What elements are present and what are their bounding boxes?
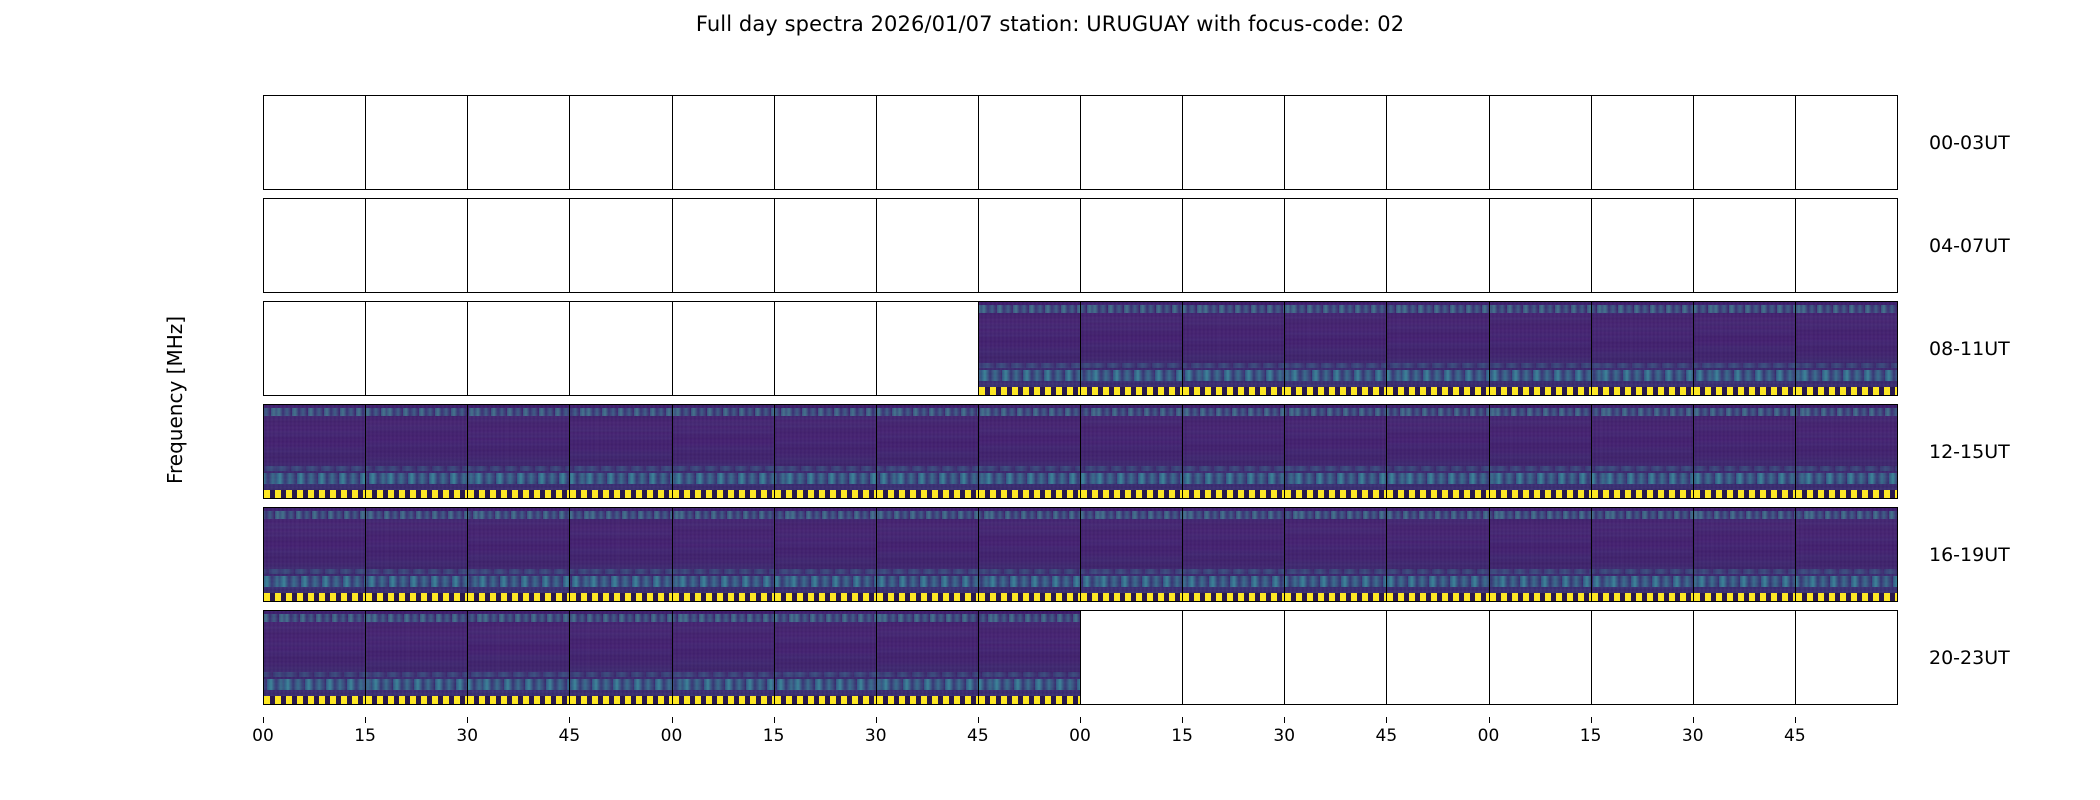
y-tick-mark bbox=[876, 343, 877, 344]
x-tick-mark bbox=[876, 717, 877, 723]
emission-band bbox=[1796, 370, 1897, 381]
emission-band bbox=[1183, 305, 1284, 313]
y-tick-mark bbox=[569, 212, 570, 213]
spectrogram-panel[interactable] bbox=[1284, 301, 1387, 396]
x-tick-label: 00 bbox=[1069, 726, 1091, 746]
y-tick-mark bbox=[1284, 549, 1285, 550]
y-tick-mark bbox=[876, 549, 877, 550]
emission-band bbox=[1387, 363, 1488, 368]
y-tick-mark bbox=[1284, 521, 1285, 522]
spectrogram-panel[interactable] bbox=[1080, 404, 1183, 499]
y-tick-mark bbox=[1693, 652, 1694, 653]
calibration-strip bbox=[1285, 387, 1386, 395]
emission-band bbox=[1796, 305, 1897, 313]
spectrogram-panel[interactable] bbox=[1591, 610, 1694, 705]
y-tick-mark bbox=[1795, 109, 1796, 110]
y-tick-mark bbox=[1386, 549, 1387, 550]
emission-band bbox=[1592, 370, 1693, 381]
y-tick-mark bbox=[978, 315, 979, 316]
spectrogram-panel[interactable] bbox=[1795, 404, 1898, 499]
spectrogram-panel[interactable] bbox=[1386, 95, 1489, 190]
spectrogram-panel[interactable] bbox=[876, 95, 979, 190]
x-tick-cell: 15 bbox=[774, 717, 876, 757]
spectrogram-panel[interactable] bbox=[1182, 198, 1285, 293]
spectrogram-panel[interactable] bbox=[1182, 610, 1285, 705]
y-tick-mark bbox=[1080, 521, 1081, 522]
spectrogram-panel[interactable] bbox=[365, 95, 468, 190]
y-tick-mark bbox=[365, 521, 366, 522]
spectrogram-panel[interactable] bbox=[1284, 198, 1387, 293]
spectrogram-data bbox=[1183, 405, 1284, 498]
spectrogram-data bbox=[468, 405, 569, 498]
spectrogram-panel[interactable] bbox=[1693, 610, 1796, 705]
spectrogram-panel[interactable] bbox=[365, 301, 468, 396]
x-tick-cell: 45 bbox=[569, 717, 671, 757]
spectrogram-panel[interactable] bbox=[365, 404, 468, 499]
spectrogram-data bbox=[877, 508, 978, 601]
spectrogram-panel[interactable] bbox=[1693, 95, 1796, 190]
y-tick-mark bbox=[1284, 109, 1285, 110]
emission-band bbox=[1183, 569, 1284, 574]
y-tick-mark bbox=[672, 624, 673, 625]
spectrogram-panel[interactable] bbox=[672, 301, 775, 396]
y-tick-mark bbox=[1182, 343, 1183, 344]
spectrogram-panel[interactable] bbox=[1795, 95, 1898, 190]
emission-band bbox=[1490, 569, 1591, 574]
emission-band bbox=[1796, 466, 1897, 471]
spectrogram-panel[interactable] bbox=[365, 198, 468, 293]
spectrogram-panel[interactable] bbox=[1386, 507, 1489, 602]
spectrogram-panel[interactable] bbox=[774, 198, 877, 293]
emission-band bbox=[1387, 576, 1488, 587]
spectrogram-panel[interactable] bbox=[1489, 198, 1592, 293]
x-tick-mark bbox=[1591, 717, 1592, 723]
y-tick-mark bbox=[1795, 418, 1796, 419]
spectrogram-data bbox=[1081, 405, 1182, 498]
y-tick-mark bbox=[876, 240, 877, 241]
calibration-strip bbox=[1694, 490, 1795, 498]
y-tick-mark bbox=[1489, 109, 1490, 110]
x-tick-cell: 15 bbox=[1182, 717, 1284, 757]
calibration-strip bbox=[673, 593, 774, 601]
spectrogram-panel[interactable]: 400200 bbox=[263, 610, 366, 705]
y-tick-mark bbox=[978, 521, 979, 522]
y-tick-mark bbox=[1489, 212, 1490, 213]
y-tick-mark bbox=[467, 521, 468, 522]
y-tick-mark bbox=[1182, 137, 1183, 138]
y-tick-mark bbox=[1489, 446, 1490, 447]
emission-band bbox=[366, 511, 467, 519]
spectrogram-panel[interactable] bbox=[1080, 95, 1183, 190]
spectrogram-panel[interactable] bbox=[672, 507, 775, 602]
y-tick-mark bbox=[1489, 652, 1490, 653]
emission-band bbox=[468, 466, 569, 471]
y-tick-mark bbox=[1182, 652, 1183, 653]
y-tick-mark bbox=[1795, 624, 1796, 625]
spectrogram-data bbox=[1490, 508, 1591, 601]
spectrogram-panel[interactable] bbox=[569, 507, 672, 602]
spectrogram-panel[interactable]: 400200 bbox=[263, 301, 366, 396]
emission-band bbox=[468, 672, 569, 677]
emission-band bbox=[775, 408, 876, 416]
x-tick-cell: 45 bbox=[1386, 717, 1488, 757]
spectrogram-data bbox=[1592, 508, 1693, 601]
x-tick-label: 00 bbox=[661, 726, 683, 746]
x-tick-mark bbox=[263, 717, 264, 723]
y-tick-mark bbox=[1386, 315, 1387, 316]
spectrogram-data bbox=[264, 508, 365, 601]
emission-band bbox=[1285, 466, 1386, 471]
spectrogram-panel[interactable] bbox=[1591, 507, 1694, 602]
spectrogram-panel[interactable] bbox=[569, 198, 672, 293]
spectrogram-panel[interactable] bbox=[1080, 610, 1183, 705]
spectrogram-panel[interactable] bbox=[1591, 198, 1694, 293]
x-tick-mark bbox=[1182, 717, 1183, 723]
spectrogram-panel[interactable] bbox=[1693, 404, 1796, 499]
row-time-label: 08-11UT bbox=[1929, 338, 2010, 360]
spectrogram-panel[interactable] bbox=[876, 198, 979, 293]
y-tick-mark bbox=[774, 315, 775, 316]
emission-band bbox=[570, 576, 671, 587]
emission-band bbox=[1694, 473, 1795, 484]
calibration-strip bbox=[570, 593, 671, 601]
spectrogram-data bbox=[264, 611, 365, 704]
spectrogram-panel[interactable] bbox=[467, 507, 570, 602]
y-tick-mark bbox=[467, 240, 468, 241]
y-tick-mark bbox=[467, 137, 468, 138]
calibration-strip bbox=[1796, 387, 1897, 395]
y-tick-mark bbox=[1795, 315, 1796, 316]
y-tick-mark bbox=[1795, 652, 1796, 653]
y-tick-mark bbox=[1693, 109, 1694, 110]
y-axis-label: Frequency [MHz] bbox=[163, 316, 187, 484]
y-tick-mark: 400 bbox=[263, 418, 264, 419]
x-tick-label: 15 bbox=[354, 726, 376, 746]
y-tick-mark bbox=[978, 109, 979, 110]
spectrogram-panel[interactable] bbox=[672, 404, 775, 499]
calibration-strip bbox=[264, 490, 365, 498]
calibration-strip bbox=[264, 593, 365, 601]
y-tick-mark bbox=[1591, 418, 1592, 419]
y-tick-mark: 400 bbox=[263, 212, 264, 213]
y-tick-mark bbox=[1693, 418, 1694, 419]
emission-band bbox=[979, 466, 1080, 471]
y-tick-mark bbox=[1182, 212, 1183, 213]
spectrogram-panel[interactable] bbox=[1080, 507, 1183, 602]
emission-band bbox=[468, 569, 569, 574]
spectrogram-panel[interactable] bbox=[1795, 610, 1898, 705]
spectrogram-panel[interactable] bbox=[978, 507, 1081, 602]
spectrogram-panel[interactable] bbox=[569, 610, 672, 705]
spectrogram-panel[interactable] bbox=[1591, 95, 1694, 190]
emission-band bbox=[1183, 408, 1284, 416]
y-tick-mark bbox=[672, 315, 673, 316]
spectrogram-panel[interactable] bbox=[672, 95, 775, 190]
y-tick-mark bbox=[467, 549, 468, 550]
spectrogram-panel[interactable] bbox=[1386, 301, 1489, 396]
spectrogram-panel[interactable] bbox=[1284, 610, 1387, 705]
y-tick-mark bbox=[467, 109, 468, 110]
y-tick-mark bbox=[1080, 446, 1081, 447]
y-tick-mark bbox=[1284, 652, 1285, 653]
x-tick-mark bbox=[978, 717, 979, 723]
y-tick-mark bbox=[1182, 418, 1183, 419]
spectrogram-panel[interactable] bbox=[672, 610, 775, 705]
x-tick-mark bbox=[467, 717, 468, 723]
x-tick-mark bbox=[365, 717, 366, 723]
spectrogram-panel[interactable] bbox=[1284, 404, 1387, 499]
y-tick-mark bbox=[876, 137, 877, 138]
calibration-strip bbox=[366, 593, 467, 601]
y-tick-mark bbox=[1386, 652, 1387, 653]
emission-band bbox=[1081, 576, 1182, 587]
calibration-strip bbox=[979, 696, 1080, 704]
spectrogram-panel[interactable] bbox=[1080, 198, 1183, 293]
spectrogram-panel[interactable] bbox=[876, 404, 979, 499]
spectrogram-panel[interactable] bbox=[1591, 301, 1694, 396]
spectrogram-panel[interactable] bbox=[569, 404, 672, 499]
spectrogram-panel[interactable] bbox=[1489, 95, 1592, 190]
y-tick-mark bbox=[365, 549, 366, 550]
y-tick-mark bbox=[672, 652, 673, 653]
x-tick-cell: 00 bbox=[1080, 717, 1182, 757]
y-tick-mark bbox=[1693, 137, 1694, 138]
calibration-strip bbox=[1081, 490, 1182, 498]
panel-row-08-11ut: 40020008-11UT bbox=[263, 301, 1897, 396]
spectrogram-panel[interactable]: 400200 bbox=[263, 198, 366, 293]
page-title: Full day spectra 2026/01/07 station: URU… bbox=[0, 12, 2100, 36]
spectrogram-panel[interactable] bbox=[569, 95, 672, 190]
spectrogram-panel[interactable] bbox=[1489, 610, 1592, 705]
emission-band bbox=[1796, 569, 1897, 574]
spectrogram-panel[interactable] bbox=[467, 198, 570, 293]
x-tick-cell: 00 bbox=[1489, 717, 1591, 757]
emission-band bbox=[1490, 511, 1591, 519]
emission-band bbox=[1081, 466, 1182, 471]
x-tick-mark bbox=[1386, 717, 1387, 723]
spectrogram-panel[interactable] bbox=[1795, 507, 1898, 602]
y-tick-mark bbox=[1080, 315, 1081, 316]
spectrogram-panel[interactable] bbox=[1795, 198, 1898, 293]
y-tick-mark bbox=[1591, 343, 1592, 344]
y-tick-mark bbox=[365, 137, 366, 138]
x-tick-mark bbox=[1489, 717, 1490, 723]
y-tick-mark bbox=[1795, 521, 1796, 522]
y-tick-mark bbox=[672, 109, 673, 110]
spectrogram-panel[interactable] bbox=[1182, 301, 1285, 396]
y-tick-mark bbox=[1182, 521, 1183, 522]
y-tick-mark bbox=[1489, 549, 1490, 550]
y-tick-mark bbox=[1795, 212, 1796, 213]
emission-band bbox=[570, 569, 671, 574]
emission-band bbox=[673, 576, 774, 587]
row-time-label: 12-15UT bbox=[1929, 441, 2010, 463]
calibration-strip bbox=[1796, 490, 1897, 498]
emission-band bbox=[979, 473, 1080, 484]
emission-band bbox=[468, 614, 569, 622]
y-tick-mark bbox=[1182, 315, 1183, 316]
spectrogram-panel[interactable]: 400200 bbox=[263, 404, 366, 499]
calibration-strip bbox=[1490, 387, 1591, 395]
spectrogram-data bbox=[979, 405, 1080, 498]
emission-band bbox=[1183, 466, 1284, 471]
spectrogram-panel[interactable] bbox=[1489, 507, 1592, 602]
emission-band bbox=[570, 473, 671, 484]
calibration-strip bbox=[366, 696, 467, 704]
emission-band bbox=[877, 473, 978, 484]
emission-band bbox=[877, 576, 978, 587]
emission-band bbox=[1592, 576, 1693, 587]
spectrogram-panel[interactable] bbox=[978, 95, 1081, 190]
spectrogram-panel[interactable] bbox=[774, 95, 877, 190]
calibration-strip bbox=[775, 593, 876, 601]
calibration-strip bbox=[877, 490, 978, 498]
y-tick-mark bbox=[1386, 418, 1387, 419]
y-tick-mark bbox=[1693, 549, 1694, 550]
calibration-strip bbox=[979, 593, 1080, 601]
spectrogram-panel[interactable] bbox=[1386, 404, 1489, 499]
y-tick-mark bbox=[1284, 240, 1285, 241]
calibration-strip bbox=[979, 490, 1080, 498]
x-tick-mark bbox=[774, 717, 775, 723]
y-tick-mark: 400 bbox=[263, 521, 264, 522]
spectrogram-panel[interactable] bbox=[978, 198, 1081, 293]
spectrogram-panel[interactable] bbox=[1693, 301, 1796, 396]
calibration-strip bbox=[468, 696, 569, 704]
spectrogram-data bbox=[1694, 508, 1795, 601]
spectrogram-panel[interactable] bbox=[1386, 198, 1489, 293]
spectrogram-panel[interactable] bbox=[876, 610, 979, 705]
panel-row-16-19ut: 40020016-19UT bbox=[263, 507, 1897, 602]
emission-band bbox=[264, 679, 365, 690]
spectrogram-panel[interactable] bbox=[569, 301, 672, 396]
y-tick-mark bbox=[876, 418, 877, 419]
x-tick-label: 15 bbox=[763, 726, 785, 746]
spectrogram-panel[interactable] bbox=[1080, 301, 1183, 396]
y-tick-mark bbox=[1386, 240, 1387, 241]
spectrogram-panel[interactable] bbox=[1591, 404, 1694, 499]
y-tick-mark bbox=[1795, 549, 1796, 550]
y-tick-mark bbox=[1489, 137, 1490, 138]
emission-band bbox=[979, 305, 1080, 313]
y-tick-mark bbox=[1795, 343, 1796, 344]
emission-band bbox=[979, 679, 1080, 690]
y-tick-mark bbox=[774, 446, 775, 447]
spectrogram-panel[interactable] bbox=[774, 610, 877, 705]
x-tick-label: 45 bbox=[967, 726, 989, 746]
spectrogram-panel[interactable] bbox=[1693, 507, 1796, 602]
spectrogram-panel[interactable] bbox=[467, 610, 570, 705]
y-tick-mark bbox=[978, 418, 979, 419]
emission-band bbox=[1592, 473, 1693, 484]
spectrogram-panel[interactable] bbox=[365, 507, 468, 602]
y-tick-mark bbox=[569, 109, 570, 110]
spectrogram-panel[interactable] bbox=[774, 404, 877, 499]
spectrogram-data bbox=[1490, 302, 1591, 395]
y-tick-mark bbox=[365, 240, 366, 241]
spectrogram-panel[interactable] bbox=[1284, 507, 1387, 602]
y-tick-mark bbox=[1080, 109, 1081, 110]
y-tick-mark bbox=[569, 521, 570, 522]
emission-band bbox=[979, 408, 1080, 416]
spectrogram-panel[interactable] bbox=[774, 507, 877, 602]
y-tick-mark bbox=[978, 212, 979, 213]
spectrogram-panel[interactable] bbox=[1489, 404, 1592, 499]
y-tick-mark bbox=[876, 446, 877, 447]
y-tick-mark bbox=[1693, 240, 1694, 241]
spectrogram-panel[interactable] bbox=[467, 95, 570, 190]
emission-band bbox=[775, 672, 876, 677]
calibration-strip bbox=[1387, 490, 1488, 498]
spectrogram-panel[interactable] bbox=[1795, 301, 1898, 396]
spectrogram-panel[interactable] bbox=[876, 301, 979, 396]
y-tick-mark bbox=[672, 446, 673, 447]
row-time-label: 04-07UT bbox=[1929, 235, 2010, 257]
emission-band bbox=[264, 466, 365, 471]
spectrogram-panel[interactable]: 400200 bbox=[263, 507, 366, 602]
spectrogram-panel[interactable] bbox=[978, 610, 1081, 705]
y-tick-mark bbox=[1284, 418, 1285, 419]
spectrogram-panel[interactable] bbox=[467, 301, 570, 396]
y-tick-mark bbox=[365, 315, 366, 316]
spectrogram-data bbox=[570, 405, 671, 498]
spectrogram-data bbox=[979, 508, 1080, 601]
spectrogram-panel[interactable] bbox=[1182, 507, 1285, 602]
spectrogram-panel[interactable] bbox=[876, 507, 979, 602]
emission-band bbox=[1081, 370, 1182, 381]
y-tick-mark bbox=[1693, 343, 1694, 344]
spectrogram-panel[interactable] bbox=[774, 301, 877, 396]
y-tick-mark bbox=[365, 212, 366, 213]
y-tick-mark bbox=[365, 343, 366, 344]
spectrogram-data bbox=[1387, 302, 1488, 395]
spectrogram-panel[interactable] bbox=[1182, 404, 1285, 499]
calibration-strip bbox=[366, 490, 467, 498]
spectrogram-panel[interactable] bbox=[1489, 301, 1592, 396]
spectrogram-panel[interactable] bbox=[1386, 610, 1489, 705]
calibration-strip bbox=[1387, 593, 1488, 601]
emission-band bbox=[1285, 569, 1386, 574]
y-tick-mark bbox=[1489, 343, 1490, 344]
y-tick-mark bbox=[569, 624, 570, 625]
emission-band bbox=[1694, 363, 1795, 368]
emission-band bbox=[1694, 370, 1795, 381]
emission-band bbox=[1694, 466, 1795, 471]
spectrogram-panel[interactable] bbox=[365, 610, 468, 705]
emission-band bbox=[1694, 511, 1795, 519]
spectrogram-panel[interactable] bbox=[978, 301, 1081, 396]
spectrogram-panel[interactable] bbox=[1693, 198, 1796, 293]
y-tick-mark bbox=[978, 624, 979, 625]
emission-band bbox=[366, 569, 467, 574]
emission-band bbox=[1285, 305, 1386, 313]
emission-band bbox=[366, 672, 467, 677]
spectrogram-data bbox=[775, 508, 876, 601]
spectrogram-panel[interactable] bbox=[672, 198, 775, 293]
y-tick-mark bbox=[876, 315, 877, 316]
spectrogram-panel[interactable] bbox=[467, 404, 570, 499]
spectrogram-panel[interactable] bbox=[1182, 95, 1285, 190]
emission-band bbox=[264, 614, 365, 622]
emission-band bbox=[1183, 370, 1284, 381]
emission-band bbox=[1796, 473, 1897, 484]
emission-band bbox=[468, 511, 569, 519]
panel-row-20-23ut: 40020020-23UT bbox=[263, 610, 1897, 705]
spectrogram-panel[interactable] bbox=[1284, 95, 1387, 190]
spectrogram-panel[interactable] bbox=[978, 404, 1081, 499]
spectrogram-panel[interactable]: 400200 bbox=[263, 95, 366, 190]
x-tick-cell: 30 bbox=[1284, 717, 1386, 757]
